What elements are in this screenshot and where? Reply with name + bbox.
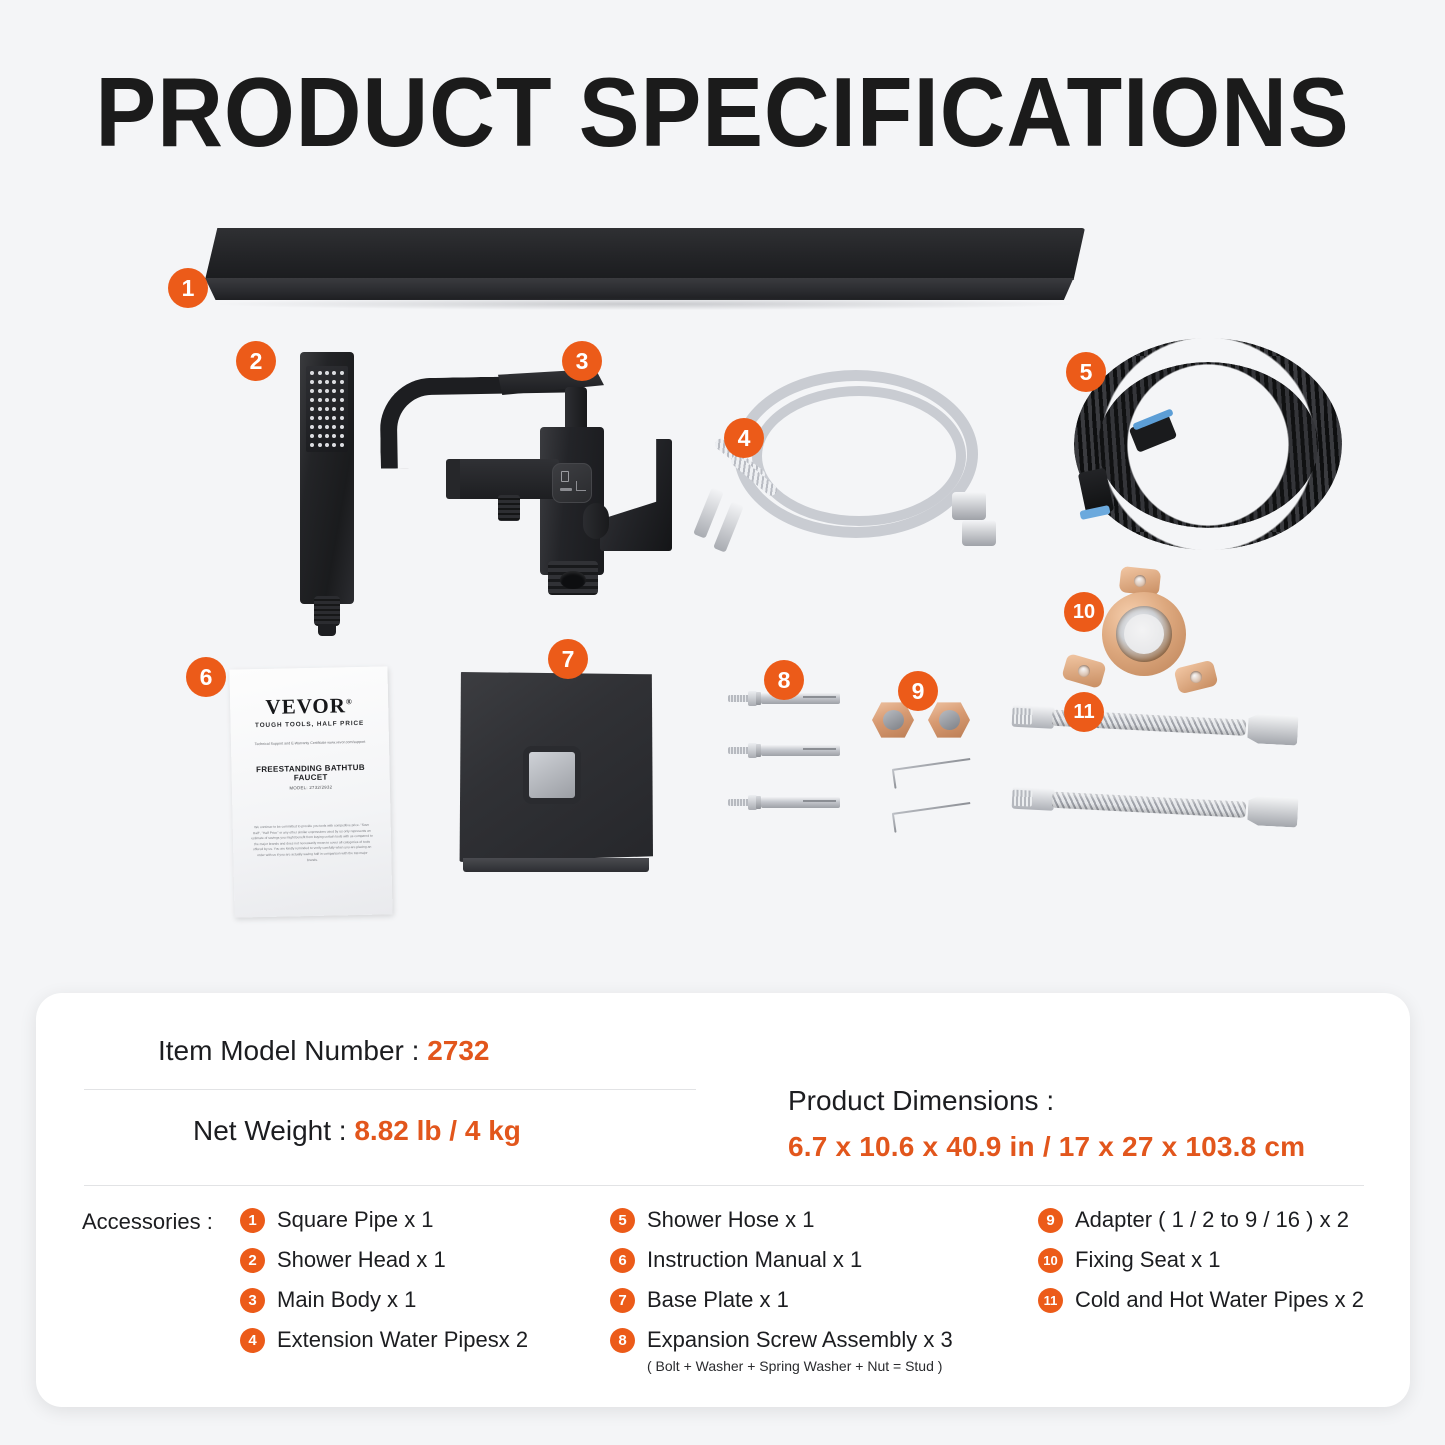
fixing-seat-arm-left — [1061, 653, 1107, 689]
part-instruction-manual: VEVOR® TOUGH TOOLS, HALF PRICE Technical… — [229, 666, 392, 917]
water-pipe-2-braid — [1052, 792, 1247, 818]
manual-paragraph: We continue to be committed to provide y… — [245, 823, 380, 865]
product-parts-diagram: 1 2 — [0, 0, 1445, 985]
main-body-handle-pivot — [583, 503, 609, 539]
item-model-label: Item Model Number : — [158, 1035, 419, 1066]
extension-pipe-nut-b — [962, 520, 996, 546]
main-body-arm — [454, 459, 559, 499]
marker-11: 11 — [1064, 692, 1104, 732]
water-pipe-2-female-nut — [1247, 795, 1299, 828]
part-expansion-screws — [728, 690, 846, 820]
expansion-screw-3 — [728, 794, 840, 810]
list-item: 6 Instruction Manual x 1 — [610, 1246, 953, 1274]
accessories-column-1: 1 Square Pipe x 1 2 Shower Head x 1 3 Ma… — [240, 1206, 528, 1366]
accessory-text: Extension Water Pipesx 2 — [277, 1326, 528, 1354]
adapter-2 — [928, 700, 970, 740]
manual-tagline: TOUGH TOOLS, HALF PRICE — [243, 720, 377, 730]
accessory-number: 10 — [1038, 1248, 1063, 1273]
list-item: 8 Expansion Screw Assembly x 3 — [610, 1326, 953, 1354]
accessory-text: Square Pipe x 1 — [277, 1206, 434, 1234]
list-item: 9 Adapter ( 1 / 2 to 9 / 16 ) x 2 — [1038, 1206, 1364, 1234]
accessory-number: 5 — [610, 1208, 635, 1233]
shower-head-connector — [314, 596, 340, 626]
accessory-number: 7 — [610, 1288, 635, 1313]
item-model-row: Item Model Number : 2732 — [158, 1035, 490, 1067]
extension-pipe-end-b — [713, 501, 744, 552]
marker-7: 7 — [548, 639, 588, 679]
part-base-plate — [459, 672, 653, 872]
square-pipe-shadow — [220, 298, 1070, 310]
manual-model-line: MODEL: 2732/2932 — [244, 784, 378, 792]
square-pipe-top-face — [205, 228, 1085, 280]
shower-hose-coil-inner — [1098, 362, 1318, 528]
base-plate-opening — [523, 746, 581, 804]
accessories-column-2: 5 Shower Hose x 1 6 Instruction Manual x… — [610, 1206, 953, 1374]
marker-6: 6 — [186, 657, 226, 697]
list-item: 5 Shower Hose x 1 — [610, 1206, 953, 1234]
accessory-number: 6 — [610, 1248, 635, 1273]
list-item: 7 Base Plate x 1 — [610, 1286, 953, 1314]
marker-10: 10 — [1064, 592, 1104, 632]
accessory-text: Base Plate x 1 — [647, 1286, 789, 1314]
product-dimensions-label: Product Dimensions : — [788, 1085, 1305, 1117]
list-item: 3 Main Body x 1 — [240, 1286, 528, 1314]
accessory-text: Expansion Screw Assembly x 3 — [647, 1326, 953, 1354]
part-cold-hot-water-pipes — [1008, 706, 1298, 836]
accessory-text: Shower Head x 1 — [277, 1246, 446, 1274]
accessory-text: Adapter ( 1 / 2 to 9 / 16 ) x 2 — [1075, 1206, 1349, 1234]
divider-bottom — [84, 1185, 1364, 1186]
marker-2: 2 — [236, 341, 276, 381]
fixing-seat-bore — [1124, 614, 1164, 654]
water-pipe-2-male-end — [1012, 787, 1055, 811]
accessory-text: Fixing Seat x 1 — [1075, 1246, 1221, 1274]
shower-head-nozzle-grid — [306, 366, 348, 452]
water-pipe-1-female-nut — [1247, 713, 1299, 746]
expansion-screw-2 — [728, 742, 840, 758]
main-body-outlet — [498, 495, 520, 521]
square-pipe-bevel-face — [205, 278, 1085, 300]
extension-pipe-coil-inner — [752, 386, 966, 526]
main-body-handle — [600, 439, 672, 551]
marker-1: 1 — [168, 268, 208, 308]
water-pipe-1-male-end — [1012, 705, 1055, 729]
list-item: 4 Extension Water Pipesx 2 — [240, 1326, 528, 1354]
list-item: 1 Square Pipe x 1 — [240, 1206, 528, 1234]
manual-product-name: FREESTANDING BATHTUB FAUCET — [243, 763, 377, 784]
accessories-label: Accessories : — [82, 1209, 213, 1235]
manual-support-line: Technical Support and E-Warranty Certifi… — [243, 740, 377, 747]
accessory-number: 11 — [1038, 1288, 1063, 1313]
water-pipe-1 — [1007, 698, 1298, 747]
marker-5: 5 — [1066, 352, 1106, 392]
product-dimensions-value: 6.7 x 10.6 x 40.9 in / 17 x 27 x 103.8 c… — [788, 1131, 1305, 1163]
main-body-arm-tip — [446, 459, 460, 499]
list-item: 10 Fixing Seat x 1 — [1038, 1246, 1364, 1274]
diverter-icon — [552, 463, 592, 503]
product-dimensions-row: Product Dimensions : 6.7 x 10.6 x 40.9 i… — [788, 1085, 1305, 1163]
accessory-text: Main Body x 1 — [277, 1286, 416, 1314]
accessory-number: 2 — [240, 1248, 265, 1273]
accessory-text: Cold and Hot Water Pipes x 2 — [1075, 1286, 1364, 1314]
allen-key-1 — [883, 756, 974, 794]
list-item: 11 Cold and Hot Water Pipes x 2 — [1038, 1286, 1364, 1314]
marker-4: 4 — [724, 418, 764, 458]
accessory-number: 9 — [1038, 1208, 1063, 1233]
marker-8: 8 — [764, 660, 804, 700]
accessory-text: Instruction Manual x 1 — [647, 1246, 862, 1274]
product-spec-page: PRODUCT SPECIFICATIONS 1 2 — [0, 0, 1445, 1445]
accessory-subtext: ( Bolt + Washer + Spring Washer + Nut = … — [647, 1358, 953, 1374]
part-main-body — [380, 355, 680, 605]
list-item: 2 Shower Head x 1 — [240, 1246, 528, 1274]
part-extension-water-pipes — [700, 362, 1000, 562]
net-weight-label: Net Weight : — [193, 1115, 347, 1146]
allen-key-2 — [883, 800, 974, 838]
water-pipe-2 — [1007, 780, 1298, 829]
part-shower-head — [300, 352, 354, 604]
accessory-number: 1 — [240, 1208, 265, 1233]
part-square-pipe — [205, 228, 1085, 300]
accessory-number: 8 — [610, 1328, 635, 1353]
shower-head-tip — [318, 624, 336, 636]
accessory-number: 3 — [240, 1288, 265, 1313]
divider-top — [84, 1089, 696, 1090]
vevor-logo: VEVOR® — [242, 693, 376, 721]
fixing-seat-arm-right — [1173, 660, 1218, 695]
accessory-number: 4 — [240, 1328, 265, 1353]
accessories-column-3: 9 Adapter ( 1 / 2 to 9 / 16 ) x 2 10 Fix… — [1038, 1206, 1364, 1326]
item-model-value: 2732 — [427, 1035, 489, 1066]
main-body-base-hole — [560, 571, 586, 589]
base-plate-edge — [463, 858, 649, 872]
extension-pipe-nut-a — [952, 492, 986, 520]
marker-9: 9 — [898, 671, 938, 711]
net-weight-row: Net Weight : 8.82 lb / 4 kg — [193, 1115, 521, 1147]
net-weight-value: 8.82 lb / 4 kg — [354, 1115, 521, 1146]
accessory-text: Shower Hose x 1 — [647, 1206, 815, 1234]
marker-3: 3 — [562, 341, 602, 381]
